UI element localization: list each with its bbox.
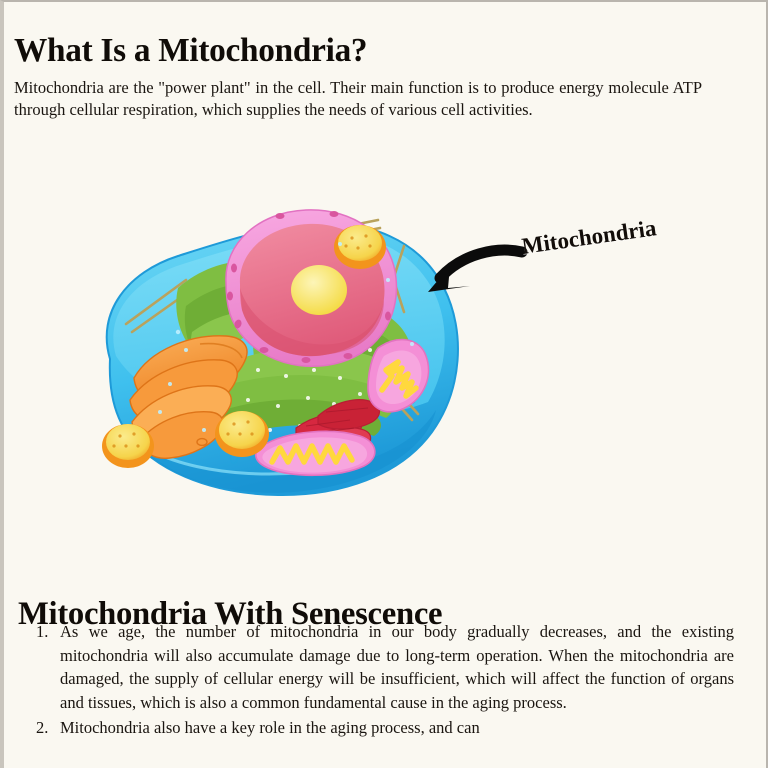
cell-figure: Mitochondria <box>4 162 768 542</box>
senescence-list: As we age, the number of mitochondria in… <box>18 620 734 742</box>
intro-paragraph: Mitochondria are the "power plant" in th… <box>14 77 702 121</box>
page-title: What Is a Mitochondria? <box>14 31 367 71</box>
ribosome-top-right <box>334 225 386 269</box>
mitochondria-callout-label: Mitochondria <box>520 215 658 260</box>
page-root: What Is a Mitochondria? Mitochondria are… <box>0 0 768 768</box>
ribosome-left <box>102 424 154 468</box>
list-item: Mitochondria also have a key role in the… <box>18 716 734 740</box>
nucleolus <box>291 265 347 315</box>
list-item: As we age, the number of mitochondria in… <box>18 620 734 714</box>
ribosome-center <box>215 411 269 457</box>
